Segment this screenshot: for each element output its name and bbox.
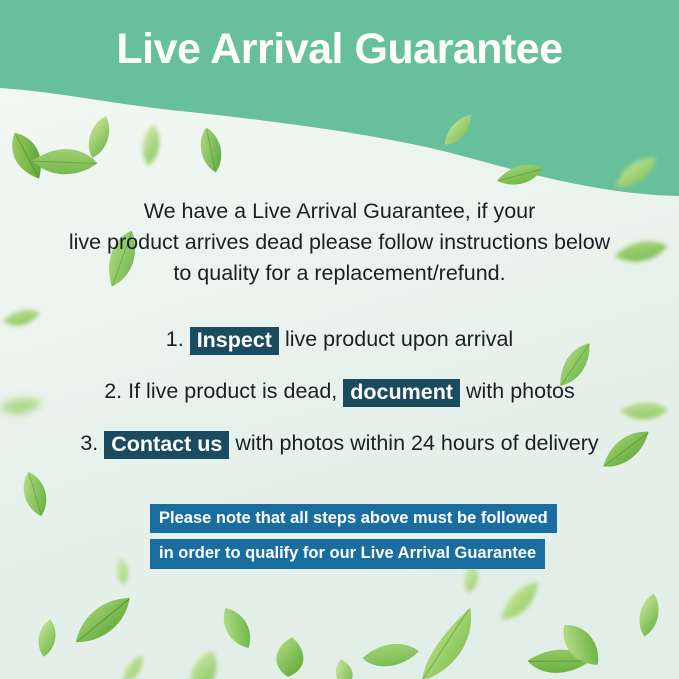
note-line-2: in order to qualify for our Live Arrival… xyxy=(150,539,545,568)
step-number-2: 2. xyxy=(104,379,122,403)
steps-list: 1. Inspect live product upon arrival 2. … xyxy=(0,313,679,469)
header-band: Live Arrival Guarantee xyxy=(0,0,679,104)
step-highlight-inspect: Inspect xyxy=(190,327,279,355)
main-content: We have a Live Arrival Guarantee, if you… xyxy=(0,196,679,469)
note-block: Please note that all steps above must be… xyxy=(150,504,557,569)
step-text-1: live product upon arrival xyxy=(285,327,513,351)
step-number-1: 1. xyxy=(166,327,184,351)
intro-line-3: to quality for a replacement/refund. xyxy=(60,258,620,289)
step-number-3: 3. xyxy=(80,431,98,455)
page-title: Live Arrival Guarantee xyxy=(116,28,562,77)
intro-line-1: We have a Live Arrival Guarantee, if you… xyxy=(60,196,620,227)
intro-paragraph: We have a Live Arrival Guarantee, if you… xyxy=(60,196,620,289)
step-item-2: 2. If live product is dead, document wit… xyxy=(0,365,679,417)
step-item-3: 3. Contact us with photos within 24 hour… xyxy=(0,417,679,469)
step-item-1: 1. Inspect live product upon arrival xyxy=(0,313,679,365)
step-highlight-contact-us[interactable]: Contact us xyxy=(104,431,229,459)
intro-line-2: live product arrives dead please follow … xyxy=(60,227,620,258)
step-highlight-document: document xyxy=(343,379,460,407)
step-text-2: with photos xyxy=(466,379,575,403)
live-arrival-guarantee-poster: Live Arrival Guarantee We have a Live Ar… xyxy=(0,0,679,679)
step-text-3: with photos within 24 hours of delivery xyxy=(235,431,598,455)
note-line-1: Please note that all steps above must be… xyxy=(150,504,557,533)
step-prefix-2: If live product is dead, xyxy=(128,379,337,403)
